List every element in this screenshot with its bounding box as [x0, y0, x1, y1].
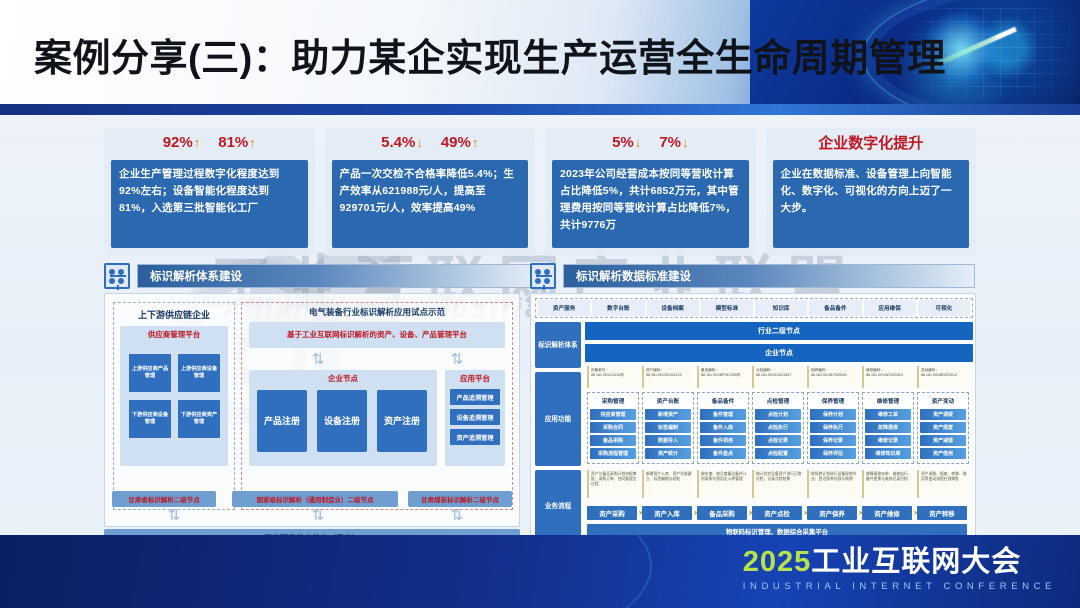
function-item[interactable]: 点检执行 [755, 422, 801, 433]
data-standard-panel: 资产服务 数字台账 设备档案 模型标准 知识库 备品备件 应用维保 可视化 标识… [530, 293, 976, 535]
node-dot [109, 278, 115, 284]
function-item[interactable]: 备件入库 [700, 422, 746, 433]
pilot-demo-title: 电气装备行业标识解析应用试点示范 [241, 306, 513, 318]
flow-arrow-up-icon [311, 508, 325, 524]
enterprise-node-label: 企业节点 [249, 370, 437, 384]
conference-logo-main: 2025工业互联网大会 [743, 545, 1056, 579]
secondary-node-bar[interactable]: 甘肃省标识解析二级节点 [112, 491, 216, 507]
function-item[interactable]: 保养执行 [810, 422, 856, 433]
function-item[interactable]: 标签编制 [645, 422, 691, 433]
sidebar-group: 业务流程 [535, 470, 581, 535]
arrow-down-icon: ↓ [416, 135, 423, 150]
service-cell[interactable]: 资产服务 [538, 300, 590, 316]
kpi-metric-value: 81% [218, 134, 248, 151]
kpi-metric-value: 5.4% [381, 134, 415, 151]
supplier-platform-box: 供应商管理平台 [120, 326, 228, 466]
function-item[interactable]: 维修工单 [865, 409, 911, 420]
industry-node-bar[interactable]: 行业二级节点 [585, 322, 973, 340]
slide-body: 工业互联网产业联盟 Alliance of Industrial Interne… [0, 115, 1080, 535]
flow-note: 资产调拨、报废、转移、借用等变动流程在线审批 [917, 470, 969, 498]
function-column-title: 备品备件 [700, 395, 746, 407]
flow-step[interactable]: 资产采购 [587, 506, 637, 520]
code-tag: 点检编码：88.161.001/DJ023457 [752, 366, 804, 388]
kpi-card-text: 企业生产管理过程数字化程度达到92%左右；设备智能化程度达到81%，入选第三批智… [111, 160, 308, 248]
flow-note: 资产与备品采购计划申报审批、采购订单、合同管理全过程 [587, 470, 639, 498]
network-node-icon [530, 263, 556, 289]
service-cell[interactable]: 知识库 [755, 300, 807, 316]
flow-arrow-up-icon [450, 352, 464, 368]
arrow-up-icon: ↑ [194, 135, 201, 150]
function-column: 资产台账 新增资产 标签编制 数据导入 资产统计 [642, 392, 694, 464]
network-node-icon [104, 263, 130, 289]
service-cell[interactable]: 备品备件 [809, 300, 861, 316]
function-item[interactable]: 备件盘点 [700, 448, 746, 459]
function-item[interactable]: 点检记录 [755, 435, 801, 446]
node-dot [544, 278, 550, 284]
function-item[interactable]: 资产借用 [920, 448, 966, 459]
application-platform-label: 应用平台 [445, 370, 505, 384]
flow-step[interactable]: 备品采购 [697, 506, 747, 520]
pilot-note-text: 基于工业互联网标识解析的资产、设备、产品管理平台 [249, 329, 505, 340]
arrow-up-icon: ↑ [472, 135, 479, 150]
function-item[interactable]: 点检配置 [755, 448, 801, 459]
function-column-title: 点检管理 [755, 395, 801, 407]
function-column: 资产变动 资产调拨 资产报废 资产减值 资产借用 [917, 392, 969, 464]
kpi-card-title: 企业数字化提升 [818, 134, 923, 156]
function-column-title: 维修管理 [865, 395, 911, 407]
kpi-metric: 92%↑ [163, 134, 201, 151]
title-banner: 案例分享(三)：助力某企实现生产运营全生命周期管理 [0, 0, 1080, 104]
code-tag: 备品编码：88.161.001/BP012390件 [697, 366, 749, 388]
app-platform-item[interactable]: 产品追溯管理 [450, 389, 500, 405]
conference-year: 2025 [743, 546, 812, 578]
sidebar-item-functions[interactable]: 应用功能 [535, 372, 581, 466]
flow-step[interactable]: 资产转移 [917, 506, 967, 520]
flow-note: 新增资产入库、资产台账建立、标签编制与粘贴 [642, 470, 694, 498]
kpi-metric-value: 49% [441, 134, 471, 151]
kpi-metrics: 92%↑ 81%↑ [163, 134, 256, 156]
function-item[interactable]: 维修记录 [865, 435, 911, 446]
function-item[interactable]: 点检计划 [755, 409, 801, 420]
app-platform-item[interactable]: 资产追溯管理 [450, 429, 500, 445]
flow-note: 故障报修派单、维修执行、备件更换与维修记录归档 [862, 470, 914, 498]
section-header-left: 标识解析体系建设 [104, 263, 540, 289]
supply-item-box[interactable]: 上游供应商设备管理 [178, 354, 220, 392]
conference-logo: 2025工业互联网大会 INDUSTRIAL INTERNET CONFEREN… [743, 545, 1056, 592]
function-item[interactable]: 保养记录 [810, 435, 856, 446]
secondary-node-bar[interactable]: 国家级标识解析（通用制造业）二级节点 [232, 491, 398, 507]
node-dot [535, 278, 541, 284]
flow-step[interactable]: 资产点检 [752, 506, 802, 520]
sidebar-item-process[interactable]: 业务流程 [535, 470, 581, 535]
kpi-metric: 81%↑ [218, 134, 256, 151]
supply-item-box[interactable]: 上游供应商产品管理 [129, 354, 171, 392]
secondary-node-bar[interactable]: 甘肃煤炭标识解析二级节点 [408, 491, 512, 507]
conference-name-cn: 工业互联网大会 [811, 546, 1021, 578]
function-column-title: 保养管理 [810, 395, 856, 407]
function-column-title: 资产台账 [645, 395, 691, 407]
node-dot [118, 278, 124, 284]
kpi-metric: 7%↓ [659, 134, 688, 151]
flow-arrow-up-icon [167, 508, 181, 524]
function-column-title: 资产变动 [920, 395, 966, 407]
function-column: 保养管理 保养计划 保养执行 保养记录 保养评估 [807, 392, 859, 464]
service-cell[interactable]: 数字台账 [592, 300, 644, 316]
enterprise-node-bar[interactable]: 企业节点 [585, 344, 973, 362]
supplier-platform-label: 供应商管理平台 [120, 326, 228, 340]
arrow-down-icon: ↓ [682, 135, 689, 150]
supply-chain-title: 上下游供应链企业 [113, 308, 235, 321]
function-item[interactable]: 保养计划 [810, 409, 856, 420]
banner-underline [0, 104, 1080, 115]
sidebar-group: 标识解析体系 [535, 322, 581, 368]
kpi-metric: 5.4%↓ [381, 134, 423, 151]
service-cell[interactable]: 应用维保 [864, 300, 916, 316]
function-item[interactable]: 资产调拨 [920, 409, 966, 420]
function-column-title: 采购管理 [590, 395, 636, 407]
function-column: 维修管理 维修工单 故障报修 维修记录 维修知识库 [862, 392, 914, 464]
flow-note: 按计划对设备资产进行日常点检，记录点检结果 [752, 470, 804, 498]
code-tag: 资产编码：88.161.001/ZC020123 [642, 366, 694, 388]
flow-step[interactable]: 资产入库 [642, 506, 692, 520]
register-box-equipment[interactable]: 设备注册 [317, 390, 367, 452]
kpi-metric: 49%↑ [441, 134, 479, 151]
page-title: 案例分享(三)：助力某企实现生产运营全生命周期管理 [34, 27, 946, 82]
function-column: 采购管理 供应商管理 采购合同 备品采购 采购流程管理 [587, 392, 639, 464]
function-item[interactable]: 故障报修 [865, 422, 911, 433]
function-item[interactable]: 资产报废 [920, 422, 966, 433]
supply-item-box[interactable]: 下游供应商设备管理 [129, 400, 171, 438]
iot-data-platform-bar[interactable]: 物联码标识管理、数据综合采集平台 [587, 524, 967, 535]
function-column: 备品备件 备件管理 备件入库 备件领用 备件盘点 [697, 392, 749, 464]
arrow-down-icon: ↓ [635, 135, 642, 150]
supply-item-box[interactable]: 下游供应商资产管理 [178, 400, 220, 438]
function-column: 点检管理 点检计划 点检执行 点检记录 点检配置 [752, 392, 804, 464]
flow-note: 按保养计划执行设备保养作业，登记保养内容与周期 [807, 470, 859, 498]
function-item[interactable]: 维修知识库 [865, 448, 911, 459]
function-item[interactable]: 采购流程管理 [590, 448, 636, 459]
kpi-card-text: 企业在数据标准、设备管理上向智能化、数字化、可视化的方向上迈了一大步。 [773, 160, 970, 248]
kpi-card-summary: 企业数字化提升 企业在数据标准、设备管理上向智能化、数字化、可视化的方向上迈了一… [766, 128, 977, 256]
node-connector [110, 275, 126, 277]
function-item[interactable]: 资产统计 [645, 448, 691, 459]
service-cell[interactable]: 模型标准 [701, 300, 753, 316]
function-item[interactable]: 备件领用 [700, 435, 746, 446]
function-item[interactable]: 备品采购 [590, 435, 636, 446]
code-tag: 设备单位：88.161.001/C0234件 [587, 366, 639, 388]
register-box-asset[interactable]: 资产注册 [377, 390, 427, 452]
kpi-card-text: 2023年公司经营成本按同等营收计算占比降低5%，共计6852万元，其中管理费用… [552, 160, 749, 248]
kpi-card: 92%↑ 81%↑ 企业生产管理过程数字化程度达到92%左右；设备智能化程度达到… [104, 128, 315, 256]
app-platform-item[interactable]: 设备追溯管理 [450, 409, 500, 425]
kpi-metric-value: 7% [659, 134, 681, 151]
kpi-card: 5%↓ 7%↓ 2023年公司经营成本按同等营收计算占比降低5%，共计6852万… [545, 128, 756, 256]
kpi-metrics: 5.4%↓ 49%↑ [381, 134, 478, 156]
node-stem [543, 285, 545, 290]
service-cell[interactable]: 可视化 [918, 300, 970, 316]
service-cell[interactable]: 设备档案 [647, 300, 699, 316]
function-item[interactable]: 新增资产 [645, 409, 691, 420]
flow-note: 按年度、按月度备品备件计划采购与领用出入库管理 [697, 470, 749, 498]
function-item[interactable]: 保养评估 [810, 448, 856, 459]
section-header-left-label: 标识解析体系建设 [137, 264, 537, 288]
register-box-product[interactable]: 产品注册 [257, 390, 307, 452]
kpi-metric-value: 5% [612, 134, 634, 151]
flow-arrow-up-icon [450, 508, 464, 524]
arrow-up-icon: ↑ [249, 135, 256, 150]
flow-arrow-up-icon [311, 352, 325, 368]
code-tag: 保养编码：88.161.001/BY020042 [807, 366, 859, 388]
flow-step[interactable]: 资产维修 [862, 506, 912, 520]
section-header-right-label: 标识解析数据标准建设 [563, 264, 975, 288]
kpi-metric: 5%↓ [612, 134, 641, 151]
service-capability-row: 资产服务 数字台账 设备档案 模型标准 知识库 备品备件 应用维保 可视化 [535, 298, 973, 318]
code-tag: 变动编码：88.161.001/BD023012 [917, 366, 969, 388]
function-item[interactable]: 数据导入 [645, 435, 691, 446]
function-item[interactable]: 采购合同 [590, 422, 636, 433]
function-item[interactable]: 资产减值 [920, 435, 966, 446]
section-header-right: 标识解析数据标准建设 [530, 263, 976, 289]
kpi-metric-value: 92% [163, 134, 193, 151]
function-item[interactable]: 备件管理 [700, 409, 746, 420]
node-connector [536, 275, 552, 277]
kpi-card-text: 产品一次交检不合格率降低5.4%；生产效率从621988元/人，提高至92970… [332, 160, 529, 248]
sidebar-group: 应用功能 [535, 372, 581, 466]
kpi-metrics: 5%↓ 7%↓ [612, 134, 688, 156]
footer-banner: 2025工业互联网大会 INDUSTRIAL INTERNET CONFEREN… [0, 535, 1080, 608]
flow-step[interactable]: 资产保养 [807, 506, 857, 520]
conference-name-en: INDUSTRIAL INTERNET CONFERENCE [743, 581, 1056, 592]
kpi-card: 5.4%↓ 49%↑ 产品一次交检不合格率降低5.4%；生产效率从621988元… [325, 128, 536, 256]
node-stem [117, 285, 119, 290]
function-item[interactable]: 供应商管理 [590, 409, 636, 420]
code-tag: 维修编码：88.161.001/WX020315 [862, 366, 914, 388]
sidebar-item-identification[interactable]: 标识解析体系 [535, 322, 581, 368]
kpi-card-row: 92%↑ 81%↑ 企业生产管理过程数字化程度达到92%左右；设备智能化程度达到… [104, 128, 976, 256]
